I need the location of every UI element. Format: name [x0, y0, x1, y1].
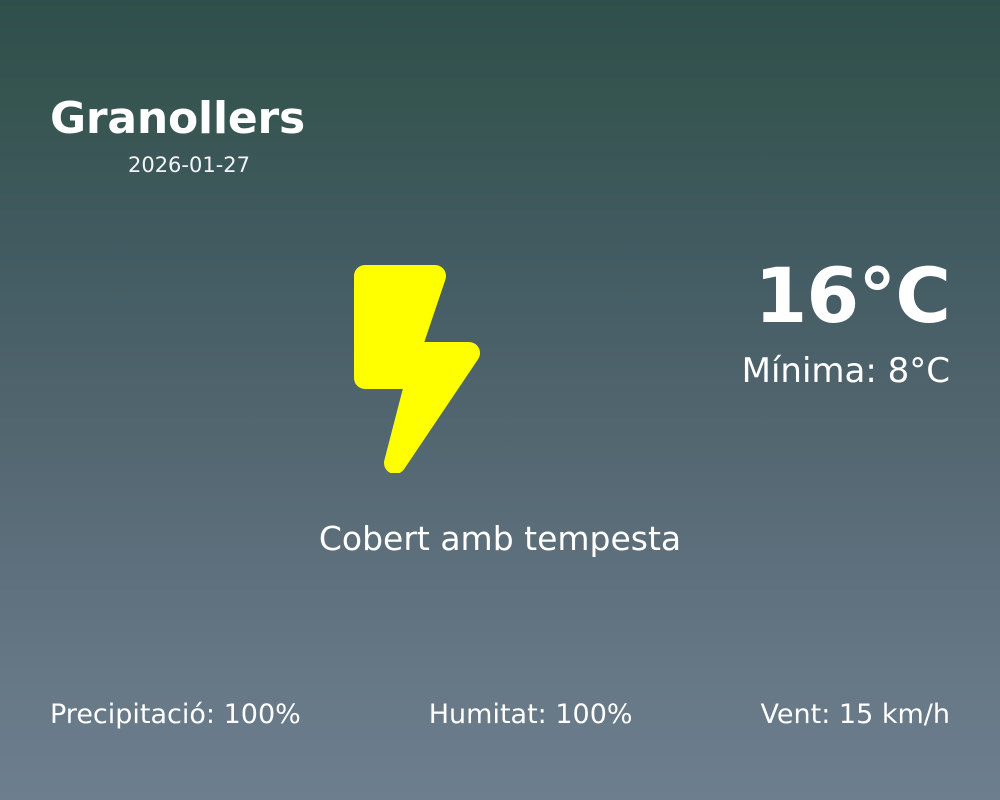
stat-precipitation: Precipitació: 100% [50, 700, 301, 730]
forecast-date: 2026-01-27 [50, 154, 328, 177]
temperature-block: 16°C Mínima: 8°C [530, 258, 950, 390]
minimum-temperature: Mínima: 8°C [530, 354, 950, 390]
stat-wind: Vent: 15 km/h [761, 700, 950, 730]
page-title: Granollers [50, 96, 520, 142]
stat-humidity: Humitat: 100% [429, 700, 633, 730]
header-block: Granollers 2026-01-27 [50, 96, 520, 177]
weather-description: Cobert amb tempesta [0, 521, 1000, 557]
stats-row: Precipitació: 100% Humitat: 100% Vent: 1… [50, 700, 950, 730]
weather-card: Granollers 2026-01-27 16°C Mínima: 8°C C… [0, 0, 1000, 800]
current-conditions-row: 16°C Mínima: 8°C [0, 258, 1000, 478]
current-temperature: 16°C [530, 258, 950, 334]
thunderstorm-lightning-bolt-icon [345, 258, 485, 473]
